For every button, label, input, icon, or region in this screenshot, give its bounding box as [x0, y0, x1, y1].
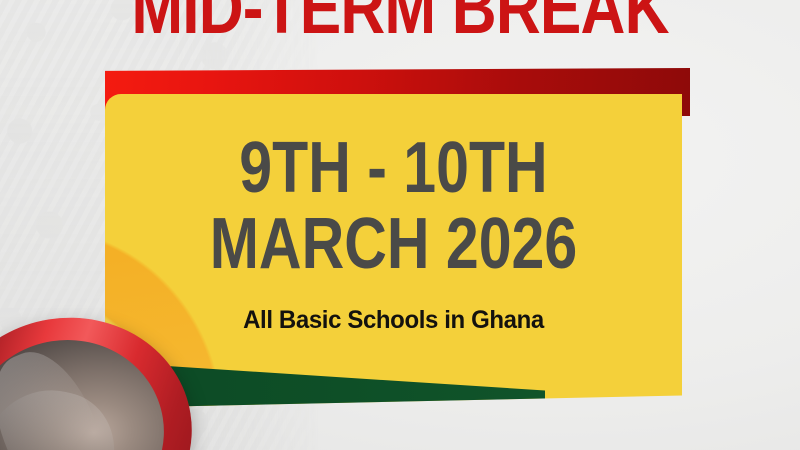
date-range-text: 9TH - 10TH: [157, 132, 630, 204]
month-year-text: MARCH 2026: [157, 208, 630, 280]
page-title: MID-TERM BREAK: [64, 0, 736, 46]
card-text-block: 9TH - 10TH MARCH 2026 All Basic Schools …: [105, 94, 682, 334]
poster-canvas: MID-TERM BREAK 9TH - 10TH MARCH 2026 All…: [0, 0, 800, 450]
audience-subtitle: All Basic Schools in Ghana: [117, 306, 671, 334]
